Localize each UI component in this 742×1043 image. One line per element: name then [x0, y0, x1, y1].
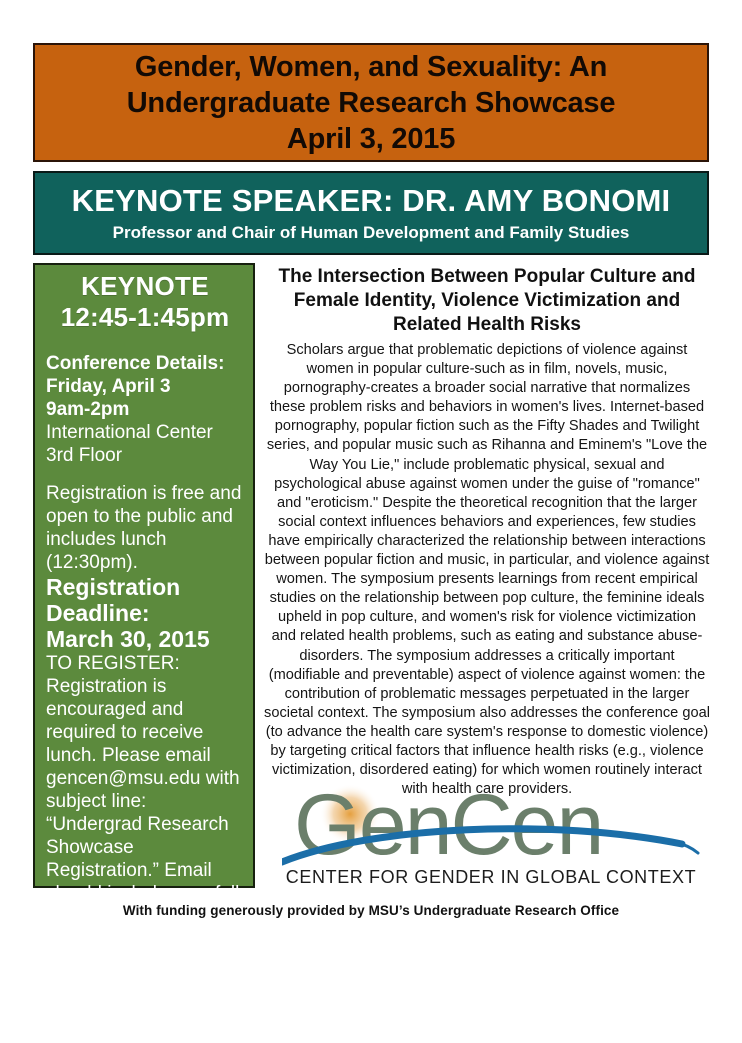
sidebar-spacer-2 [46, 467, 244, 482]
abstract-body: Scholars argue that problematic depictio… [264, 341, 710, 799]
registration-free-note: Registration is free and open to the pub… [46, 482, 244, 574]
funding-note: With funding generously provided by MSU’… [0, 903, 742, 918]
to-register-label: TO REGISTER: [46, 652, 244, 675]
sidebar-keynote-heading: KEYNOTE [46, 271, 244, 302]
gencen-logo-svg: GenCen CENTER FOR GENDER IN GLOBAL CONTE… [282, 782, 700, 890]
sidebar-keynote-time: 12:45-1:45pm [46, 302, 244, 333]
abstract-title: The Intersection Between Popular Culture… [264, 265, 710, 337]
gencen-logo: GenCen CENTER FOR GENDER IN GLOBAL CONTE… [282, 782, 700, 890]
poster-title-line-1: Gender, Women, and Sexuality: An [135, 49, 607, 85]
registration-deadline-label-line2: Deadline: [46, 600, 244, 626]
conference-hours: 9am-2pm [46, 398, 244, 421]
conference-venue: International Center [46, 421, 244, 444]
logo-swoosh-tail [674, 842, 698, 853]
logo-tagline-text: CENTER FOR GENDER IN GLOBAL CONTEXT [286, 867, 696, 887]
event-poster: Gender, Women, and Sexuality: An Undergr… [0, 0, 742, 960]
abstract-column: The Intersection Between Popular Culture… [264, 265, 710, 799]
conference-venue-floor: 3rd Floor [46, 444, 244, 467]
registration-deadline-date: March 30, 2015 [46, 626, 244, 652]
conference-day: Friday, April 3 [46, 375, 244, 398]
registration-instructions: Registration is encouraged and required … [46, 675, 244, 1043]
keynote-speaker-role: Professor and Chair of Human Development… [113, 221, 630, 244]
poster-title-band: Gender, Women, and Sexuality: An Undergr… [33, 43, 709, 162]
keynote-speaker-name: KEYNOTE SPEAKER: DR. AMY BONOMI [72, 182, 671, 220]
poster-title-line-3: April 3, 2015 [287, 121, 455, 157]
registration-deadline-label-line1: Registration [46, 574, 244, 600]
poster-title-line-2: Undergraduate Research Showcase [127, 85, 616, 121]
sidebar-spacer-1 [46, 333, 244, 352]
conference-details-label: Conference Details: [46, 352, 244, 375]
keynote-speaker-band: KEYNOTE SPEAKER: DR. AMY BONOMI Professo… [33, 171, 709, 255]
details-sidebar: KEYNOTE 12:45-1:45pm Conference Details:… [33, 263, 255, 888]
